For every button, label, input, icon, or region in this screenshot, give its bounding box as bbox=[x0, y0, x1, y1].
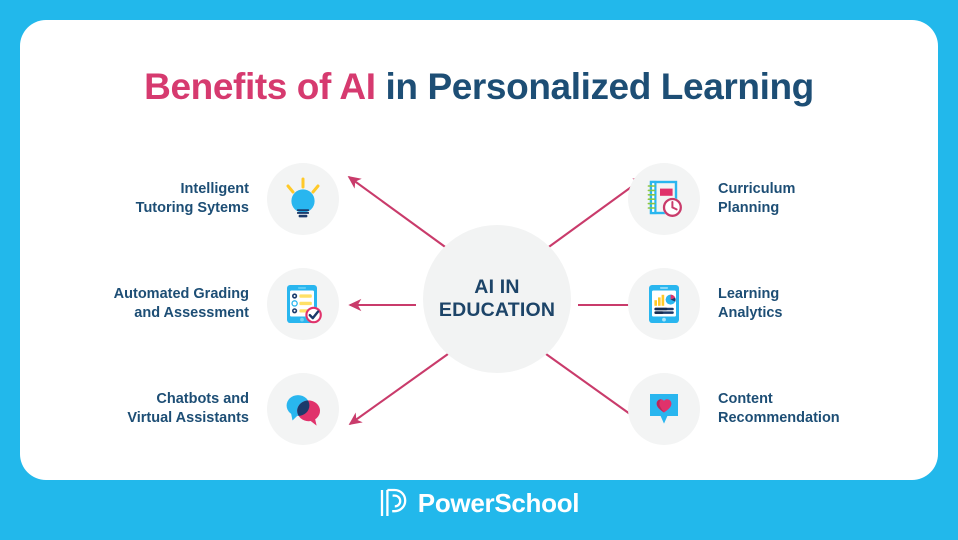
arrow-down-left bbox=[350, 354, 448, 424]
chat-bubbles-icon bbox=[280, 386, 326, 432]
node-curriculum-planning[interactable]: Curriculum Planning bbox=[628, 163, 922, 235]
notebook-clock-icon bbox=[641, 176, 687, 222]
node-label-curriculum-planning: Curriculum Planning bbox=[700, 180, 795, 218]
icon-disc-intelligent-tutoring-systems bbox=[267, 163, 339, 235]
node-content-recommendation[interactable]: Content Recommendation bbox=[628, 373, 922, 445]
checklist-tablet-icon bbox=[280, 281, 326, 327]
node-label-content-recommendation: Content Recommendation bbox=[700, 390, 840, 428]
analytics-tablet-icon bbox=[641, 281, 687, 327]
node-chatbots-and-virtual-assistants[interactable]: Chatbots and Virtual Assistants bbox=[45, 373, 339, 445]
node-automated-grading-and-assessment[interactable]: Automated Grading and Assessment bbox=[45, 268, 339, 340]
node-learning-analytics[interactable]: Learning Analytics bbox=[628, 268, 922, 340]
powerschool-p-logo bbox=[379, 487, 409, 519]
icon-disc-chatbots-and-virtual-assistants bbox=[267, 373, 339, 445]
brand-name: PowerSchool bbox=[418, 488, 579, 519]
content-card: Benefits of AI in Personalized Learning bbox=[20, 20, 938, 480]
node-label-learning-analytics: Learning Analytics bbox=[700, 285, 782, 323]
icon-disc-curriculum-planning bbox=[628, 163, 700, 235]
node-label-chatbots-and-virtual-assistants: Chatbots and Virtual Assistants bbox=[45, 390, 267, 428]
arrow-up-left bbox=[349, 177, 448, 249]
infographic-diagram: AI IN EDUCATION Intelligent Tutoring Syt… bbox=[20, 20, 938, 480]
footer-brand: PowerSchool bbox=[0, 487, 958, 519]
lightbulb-icon bbox=[280, 176, 326, 222]
center-hub-circle: AI IN EDUCATION bbox=[423, 225, 571, 373]
node-intelligent-tutoring-systems[interactable]: Intelligent Tutoring Sytems bbox=[45, 163, 339, 235]
node-label-intelligent-tutoring-systems: Intelligent Tutoring Sytems bbox=[45, 180, 267, 218]
icon-disc-learning-analytics bbox=[628, 268, 700, 340]
icon-disc-automated-grading-and-assessment bbox=[267, 268, 339, 340]
node-label-automated-grading-and-assessment: Automated Grading and Assessment bbox=[45, 285, 267, 323]
center-hub-label: AI IN EDUCATION bbox=[439, 276, 555, 322]
heart-bubble-icon bbox=[641, 386, 687, 432]
icon-disc-content-recommendation bbox=[628, 373, 700, 445]
